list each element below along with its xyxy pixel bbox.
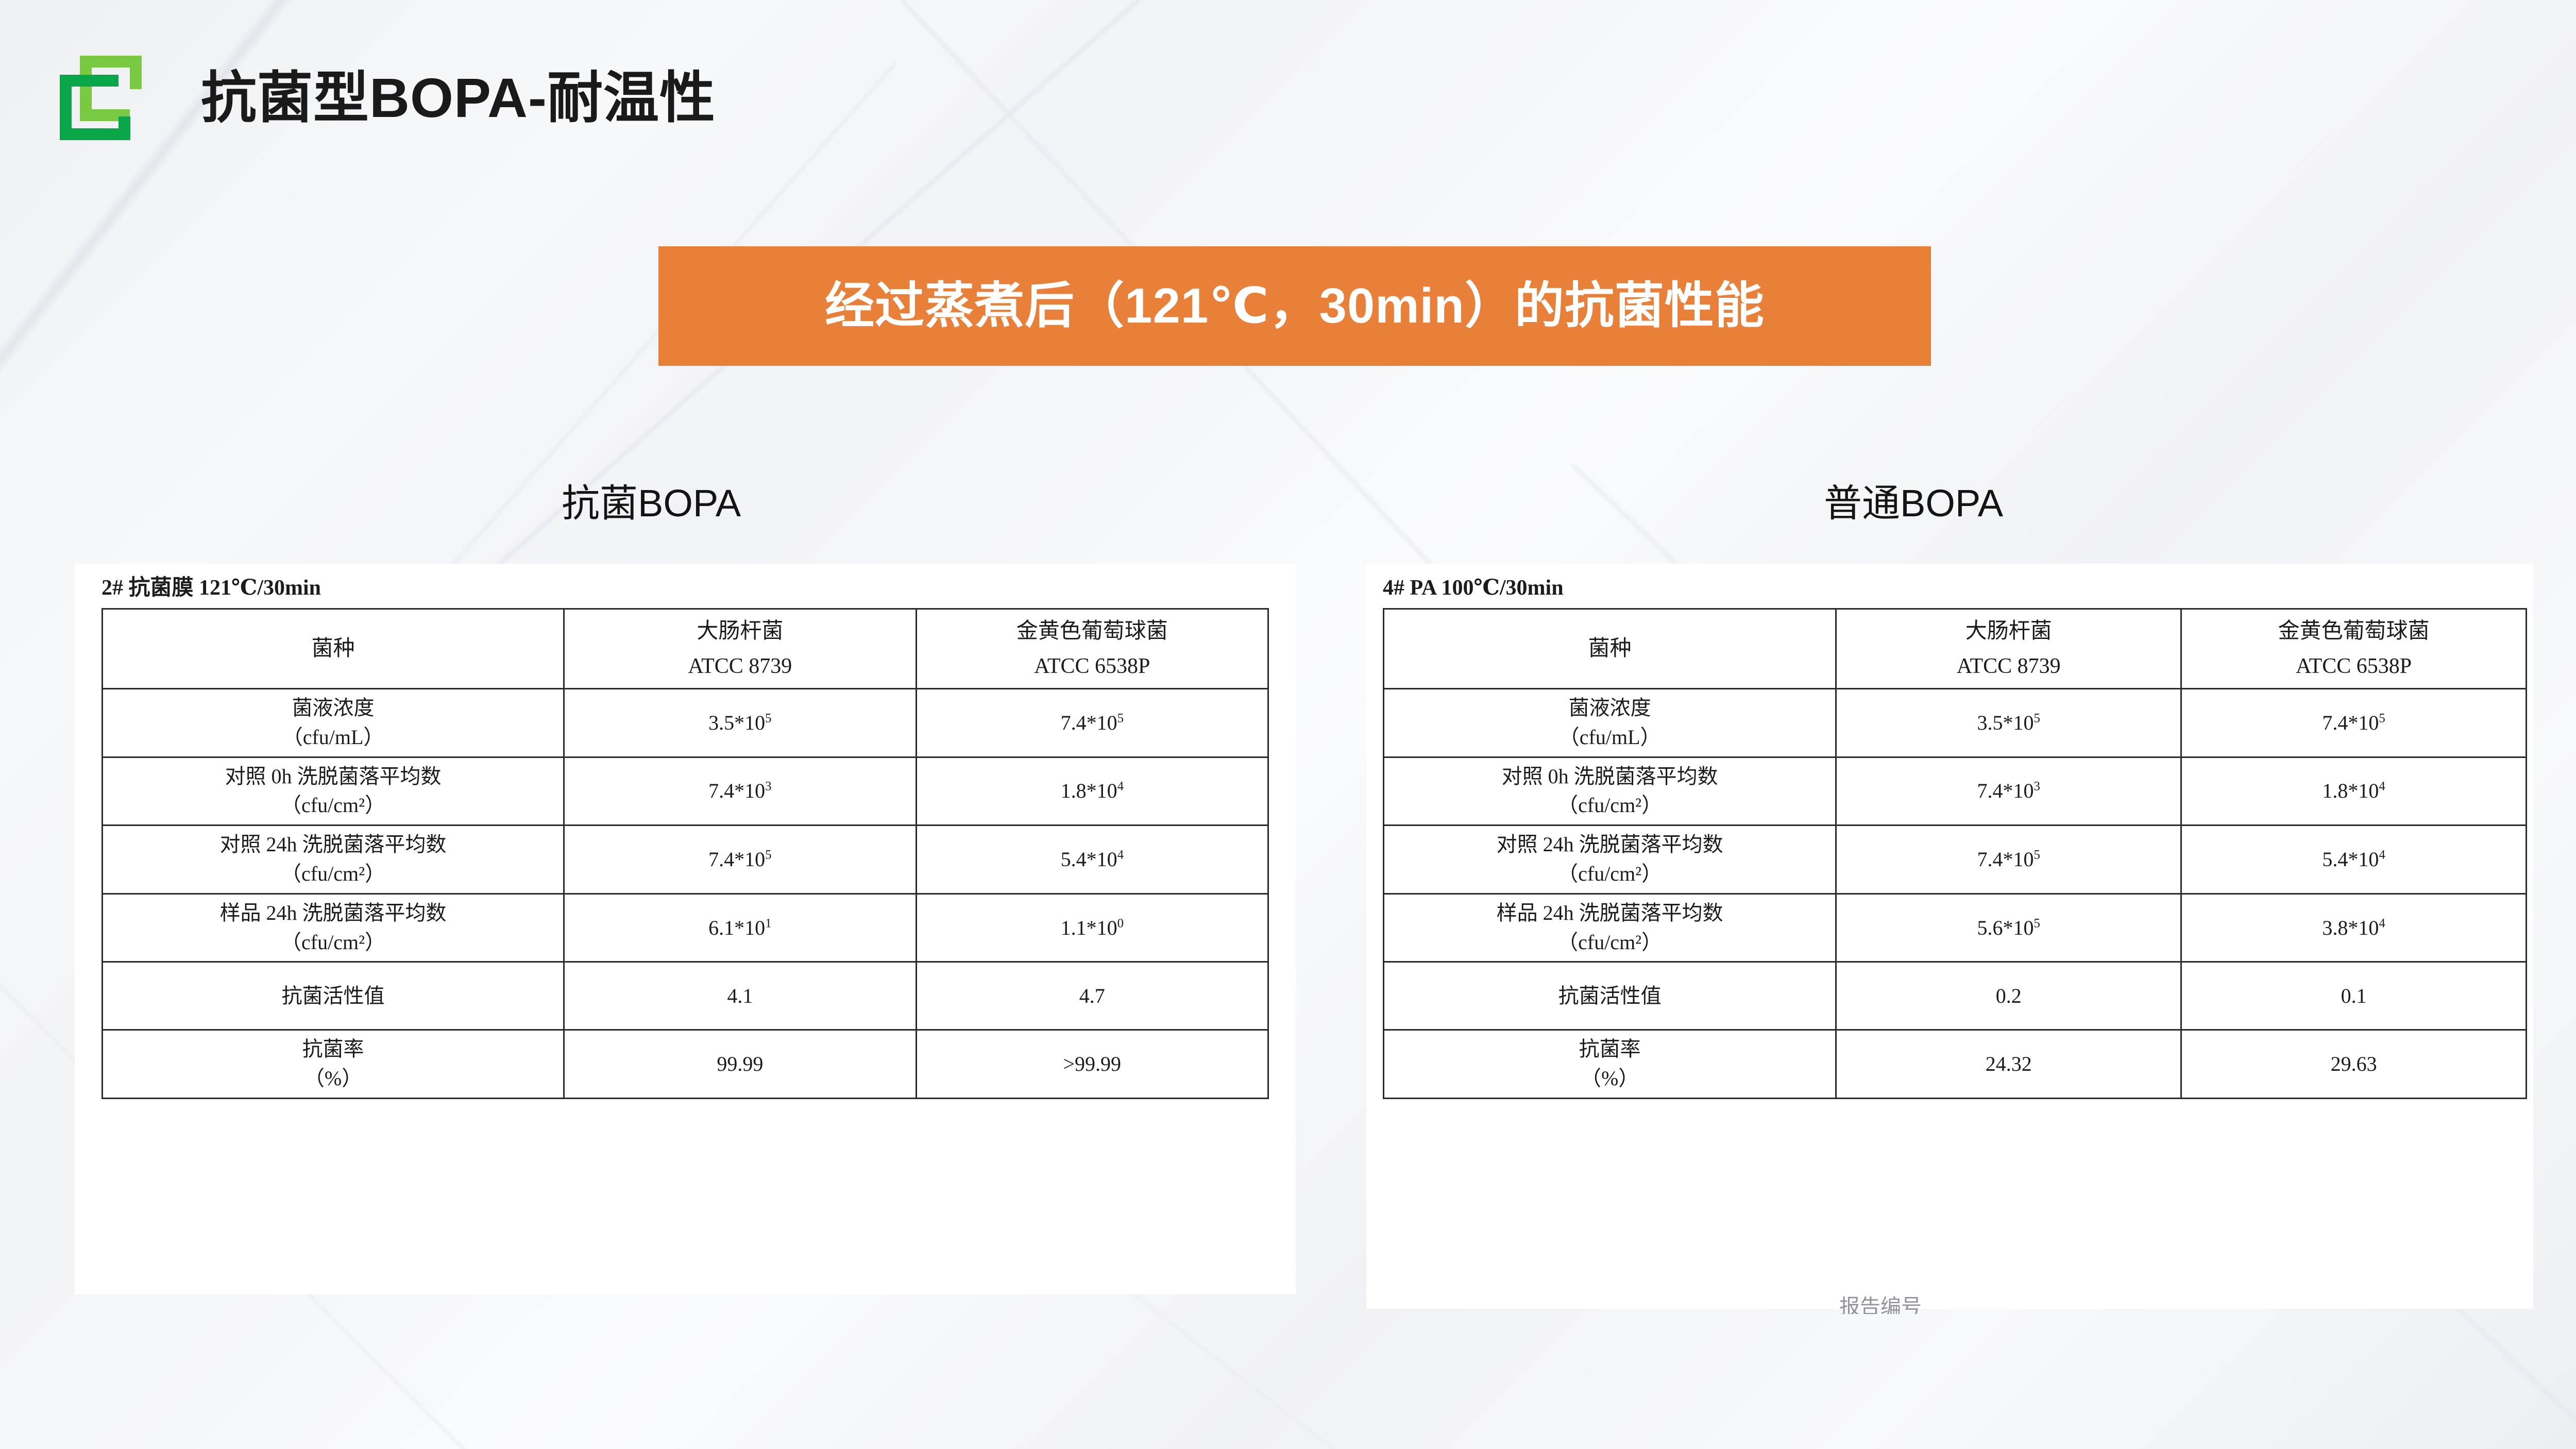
value-mantissa: 1.8*10 bbox=[2322, 779, 2379, 802]
cell-value-r5-c2: 4.7 bbox=[916, 962, 1268, 1030]
row-label-line1: 对照 24h 洗脱菌落平均数 bbox=[1387, 830, 1832, 860]
cell-value-r3-c1: 7.4*105 bbox=[1836, 825, 2181, 894]
row-label-unit: （cfu/mL） bbox=[1387, 723, 1832, 752]
value-mantissa: 0.1 bbox=[2341, 984, 2367, 1007]
cell-value-r6-c1: 99.99 bbox=[564, 1030, 916, 1099]
row-label-unit: （cfu/cm²） bbox=[1387, 860, 1832, 889]
value-mantissa: 3.8*10 bbox=[2322, 916, 2379, 939]
row-label-line1: 样品 24h 洗脱菌落平均数 bbox=[1387, 899, 1832, 928]
table-row: 菌液浓度（cfu/mL）3.5*1057.4*105 bbox=[103, 689, 1268, 757]
column-header-name: 大肠杆菌 bbox=[568, 614, 912, 649]
cell-value-r4-c1: 5.6*105 bbox=[1836, 894, 2181, 962]
column-header-strain-id: ATCC 8739 bbox=[568, 649, 912, 684]
value-mantissa: 5.6*10 bbox=[1977, 916, 2034, 939]
table-row: 样品 24h 洗脱菌落平均数（cfu/cm²）6.1*1011.1*100 bbox=[103, 894, 1268, 962]
value-mantissa: 1.1*10 bbox=[1061, 916, 1117, 939]
cell-value-r6-c2: 29.63 bbox=[2181, 1030, 2527, 1099]
row-label-line1: 对照 24h 洗脱菌落平均数 bbox=[106, 830, 560, 860]
row-label-6: 抗菌率（%） bbox=[1384, 1030, 1836, 1099]
table-row: 菌液浓度（cfu/mL）3.5*1057.4*105 bbox=[1384, 689, 2527, 757]
table-header-row: 菌种大肠杆菌ATCC 8739金黄色葡萄球菌ATCC 6538P bbox=[1384, 609, 2527, 689]
cell-value-r1-c1: 3.5*105 bbox=[564, 689, 916, 757]
row-label-line1: 抗菌活性值 bbox=[106, 982, 560, 1011]
column-header-strain-id: ATCC 6538P bbox=[920, 649, 1264, 684]
value-mantissa: 29.63 bbox=[2331, 1052, 2377, 1075]
cell-value-r2-c2: 1.8*104 bbox=[2181, 757, 2527, 825]
column-header-name: 菌种 bbox=[1387, 631, 1832, 666]
value-exponent: 1 bbox=[765, 916, 771, 930]
value-mantissa: 3.5*10 bbox=[708, 711, 765, 734]
value-mantissa: 4.1 bbox=[727, 984, 753, 1007]
table-row: 对照 24h 洗脱菌落平均数（cfu/cm²）7.4*1055.4*104 bbox=[1384, 825, 2527, 894]
table-header-row: 菌种大肠杆菌ATCC 8739金黄色葡萄球菌ATCC 6538P bbox=[103, 609, 1268, 689]
row-label-1: 菌液浓度（cfu/mL） bbox=[1384, 689, 1836, 757]
value-exponent: 5 bbox=[2034, 712, 2040, 726]
value-exponent: 5 bbox=[2034, 916, 2040, 930]
value-mantissa: 1.8*10 bbox=[1061, 779, 1117, 802]
column-header-strain-id: ATCC 8739 bbox=[1840, 649, 2177, 684]
value-exponent: 4 bbox=[2379, 780, 2385, 794]
clipped-footnote-text: 报告编号 bbox=[1839, 1296, 2056, 1314]
row-label-unit: （cfu/cm²） bbox=[106, 860, 560, 889]
table-row: 样品 24h 洗脱菌落平均数（cfu/cm²）5.6*1053.8*104 bbox=[1384, 894, 2527, 962]
row-label-5: 抗菌活性值 bbox=[1384, 962, 1836, 1030]
value-exponent: 4 bbox=[1117, 780, 1124, 794]
row-label-2: 对照 0h 洗脱菌落平均数（cfu/cm²） bbox=[1384, 757, 1836, 825]
row-label-2: 对照 0h 洗脱菌落平均数（cfu/cm²） bbox=[103, 757, 564, 825]
banner-text: 经过蒸煮后（121℃，30min）的抗菌性能 bbox=[825, 281, 1765, 331]
value-mantissa: 6.1*10 bbox=[708, 916, 765, 939]
cell-value-r4-c2: 3.8*104 bbox=[2181, 894, 2527, 962]
value-exponent: 3 bbox=[765, 780, 771, 794]
row-label-line1: 抗菌率 bbox=[1387, 1035, 1832, 1064]
table-row: 抗菌率（%）99.99>99.99 bbox=[103, 1030, 1268, 1099]
value-mantissa: 99.99 bbox=[717, 1052, 763, 1075]
cell-value-r5-c1: 4.1 bbox=[564, 962, 916, 1030]
column-header-strain-id: ATCC 6538P bbox=[2185, 649, 2522, 684]
column-header-3: 金黄色葡萄球菌ATCC 6538P bbox=[916, 609, 1268, 689]
cell-value-r1-c1: 3.5*105 bbox=[1836, 689, 2181, 757]
row-label-1: 菌液浓度（cfu/mL） bbox=[103, 689, 564, 757]
slide-header: 抗菌型BOPA-耐温性 bbox=[52, 36, 716, 155]
cell-value-r2-c1: 7.4*103 bbox=[564, 757, 916, 825]
row-label-unit: （cfu/cm²） bbox=[106, 928, 560, 957]
value-mantissa: 7.4*10 bbox=[1061, 711, 1117, 734]
column-header-name: 金黄色葡萄球菌 bbox=[920, 614, 1264, 649]
cell-value-r1-c2: 7.4*105 bbox=[916, 689, 1268, 757]
value-exponent: 0 bbox=[1117, 916, 1124, 930]
table-row: 对照 0h 洗脱菌落平均数（cfu/cm²）7.4*1031.8*104 bbox=[103, 757, 1268, 825]
table-row: 抗菌活性值0.20.1 bbox=[1384, 962, 2527, 1030]
column-header-1: 菌种 bbox=[1384, 609, 1836, 689]
table-body-right: 菌种大肠杆菌ATCC 8739金黄色葡萄球菌ATCC 6538P菌液浓度（cfu… bbox=[1384, 609, 2527, 1099]
value-mantissa: 0.2 bbox=[1996, 984, 2022, 1007]
row-label-6: 抗菌率（%） bbox=[103, 1030, 564, 1099]
row-label-unit: （cfu/cm²） bbox=[1387, 791, 1832, 820]
row-label-line1: 抗菌率 bbox=[106, 1035, 560, 1064]
lab-results-table-right: 菌种大肠杆菌ATCC 8739金黄色葡萄球菌ATCC 6538P菌液浓度（cfu… bbox=[1383, 608, 2527, 1099]
column-header-name: 菌种 bbox=[106, 631, 560, 666]
value-mantissa: 24.32 bbox=[1986, 1052, 2032, 1075]
cell-value-r5-c1: 0.2 bbox=[1836, 962, 2181, 1030]
row-label-3: 对照 24h 洗脱菌落平均数（cfu/cm²） bbox=[1384, 825, 1836, 894]
value-mantissa: 7.4*10 bbox=[708, 779, 765, 802]
row-label-unit: （cfu/mL） bbox=[106, 723, 560, 752]
table-caption-left: 2# 抗菌膜 121℃/30min bbox=[101, 577, 1269, 608]
table-card-ordinary: 4# PA 100℃/30min 菌种大肠杆菌ATCC 8739金黄色葡萄球菌A… bbox=[1366, 564, 2533, 1309]
value-mantissa: 7.4*10 bbox=[1977, 848, 2034, 871]
cell-value-r6-c1: 24.32 bbox=[1836, 1030, 2181, 1099]
cell-value-r4-c1: 6.1*101 bbox=[564, 894, 916, 962]
cell-value-r6-c2: >99.99 bbox=[916, 1030, 1268, 1099]
value-mantissa: 3.5*10 bbox=[1977, 711, 2034, 734]
row-label-line1: 样品 24h 洗脱菌落平均数 bbox=[106, 899, 560, 928]
row-label-4: 样品 24h 洗脱菌落平均数（cfu/cm²） bbox=[103, 894, 564, 962]
cell-value-r3-c1: 7.4*105 bbox=[564, 825, 916, 894]
cell-value-r5-c2: 0.1 bbox=[2181, 962, 2527, 1030]
row-label-3: 对照 24h 洗脱菌落平均数（cfu/cm²） bbox=[103, 825, 564, 894]
value-exponent: 5 bbox=[2034, 848, 2040, 862]
value-exponent: 4 bbox=[2379, 848, 2385, 862]
value-mantissa: 7.4*10 bbox=[1977, 779, 2034, 802]
row-label-5: 抗菌活性值 bbox=[103, 962, 564, 1030]
value-mantissa: 4.7 bbox=[1079, 984, 1105, 1007]
table-row: 对照 0h 洗脱菌落平均数（cfu/cm²）7.4*1031.8*104 bbox=[1384, 757, 2527, 825]
row-label-unit: （cfu/cm²） bbox=[106, 791, 560, 820]
row-label-line1: 菌液浓度 bbox=[106, 694, 560, 723]
value-exponent: 5 bbox=[1117, 712, 1124, 726]
row-label-line1: 菌液浓度 bbox=[1387, 694, 1832, 723]
table-caption-right: 4# PA 100℃/30min bbox=[1383, 577, 2527, 608]
value-mantissa: 7.4*10 bbox=[2322, 711, 2379, 734]
row-label-unit: （%） bbox=[106, 1064, 560, 1093]
column-header-3: 金黄色葡萄球菌ATCC 6538P bbox=[2181, 609, 2527, 689]
row-label-unit: （cfu/cm²） bbox=[1387, 928, 1832, 957]
cell-value-r3-c2: 5.4*104 bbox=[2181, 825, 2527, 894]
value-exponent: 4 bbox=[1117, 848, 1124, 862]
column-header-2: 大肠杆菌ATCC 8739 bbox=[564, 609, 916, 689]
value-exponent: 5 bbox=[765, 712, 771, 726]
table-row: 抗菌率（%）24.3229.63 bbox=[1384, 1030, 2527, 1099]
column-header-2: 大肠杆菌ATCC 8739 bbox=[1836, 609, 2181, 689]
company-logo-icon bbox=[52, 36, 170, 155]
value-exponent: 3 bbox=[2034, 780, 2040, 794]
table-row: 抗菌活性值4.14.7 bbox=[103, 962, 1268, 1030]
value-exponent: 5 bbox=[765, 848, 771, 862]
row-label-line1: 对照 0h 洗脱菌落平均数 bbox=[106, 762, 560, 791]
cell-value-r1-c2: 7.4*105 bbox=[2181, 689, 2527, 757]
table-body-left: 菌种大肠杆菌ATCC 8739金黄色葡萄球菌ATCC 6538P菌液浓度（cfu… bbox=[103, 609, 1268, 1099]
section-label-antibacterial-bopa: 抗菌BOPA bbox=[562, 484, 741, 523]
table-card-antibacterial: 2# 抗菌膜 121℃/30min 菌种大肠杆菌ATCC 8739金黄色葡萄球菌… bbox=[75, 564, 1296, 1294]
section-label-ordinary-bopa: 普通BOPA bbox=[1824, 484, 2003, 523]
column-header-name: 大肠杆菌 bbox=[1840, 614, 2177, 649]
row-label-line1: 抗菌活性值 bbox=[1387, 982, 1832, 1011]
row-label-line1: 对照 0h 洗脱菌落平均数 bbox=[1387, 762, 1832, 791]
value-exponent: 4 bbox=[2379, 916, 2385, 930]
row-label-unit: （%） bbox=[1387, 1064, 1832, 1093]
cell-value-r3-c2: 5.4*104 bbox=[916, 825, 1268, 894]
value-mantissa: 7.4*10 bbox=[708, 848, 765, 871]
table-row: 对照 24h 洗脱菌落平均数（cfu/cm²）7.4*1055.4*104 bbox=[103, 825, 1268, 894]
slide-canvas: 抗菌型BOPA-耐温性 经过蒸煮后（121℃，30min）的抗菌性能 抗菌BOP… bbox=[0, 0, 2576, 1449]
column-header-name: 金黄色葡萄球菌 bbox=[2185, 614, 2522, 649]
page-title: 抗菌型BOPA-耐温性 bbox=[201, 65, 716, 126]
column-header-1: 菌种 bbox=[103, 609, 564, 689]
value-mantissa: >99.99 bbox=[1063, 1052, 1122, 1075]
cell-value-r2-c2: 1.8*104 bbox=[916, 757, 1268, 825]
value-exponent: 5 bbox=[2379, 712, 2385, 726]
lab-results-table-left: 菌种大肠杆菌ATCC 8739金黄色葡萄球菌ATCC 6538P菌液浓度（cfu… bbox=[101, 608, 1269, 1099]
row-label-4: 样品 24h 洗脱菌落平均数（cfu/cm²） bbox=[1384, 894, 1836, 962]
highlight-banner: 经过蒸煮后（121℃，30min）的抗菌性能 bbox=[658, 246, 1931, 366]
cell-value-r2-c1: 7.4*103 bbox=[1836, 757, 2181, 825]
value-mantissa: 5.4*10 bbox=[1061, 848, 1117, 871]
cell-value-r4-c2: 1.1*100 bbox=[916, 894, 1268, 962]
value-mantissa: 5.4*10 bbox=[2322, 848, 2379, 871]
